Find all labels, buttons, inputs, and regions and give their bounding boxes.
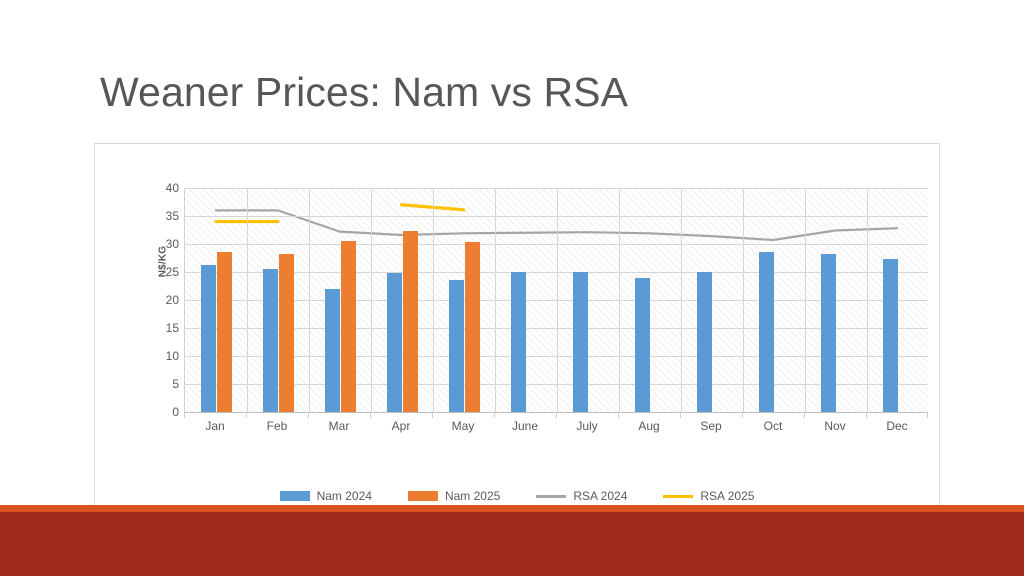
legend-swatch-bar-icon — [280, 491, 310, 501]
x-axis-tick — [308, 412, 309, 418]
bar-nam-2024-jan[interactable] — [201, 265, 216, 412]
accent-band — [0, 505, 1024, 512]
page-title: Weaner Prices: Nam vs RSA — [100, 69, 628, 116]
category-divider — [867, 188, 868, 412]
x-axis-tick-label: June — [512, 419, 538, 435]
bar-nam-2025-feb[interactable] — [279, 254, 294, 412]
x-axis-tick — [927, 412, 928, 418]
bar-nam-2024-dec[interactable] — [883, 259, 898, 412]
legend-item-rsa-2025[interactable]: RSA 2025 — [663, 489, 754, 503]
legend-label: RSA 2025 — [700, 489, 754, 503]
y-axis-tick-label: 25 — [166, 266, 179, 278]
bar-nam-2024-apr[interactable] — [387, 273, 402, 412]
bar-nam-2024-aug[interactable] — [635, 278, 650, 412]
category-divider — [247, 188, 248, 412]
legend-swatch-line-icon — [536, 495, 566, 498]
bar-nam-2024-sep[interactable] — [697, 272, 712, 412]
y-axis-tick-label: 10 — [166, 350, 179, 362]
y-axis-tick-label: 35 — [166, 210, 179, 222]
bar-nam-2024-mar[interactable] — [325, 289, 340, 412]
legend-label: RSA 2024 — [573, 489, 627, 503]
bar-nam-2025-mar[interactable] — [341, 241, 356, 412]
category-divider — [743, 188, 744, 412]
x-axis-tick-label: Apr — [392, 419, 411, 435]
x-axis-tick-label: Feb — [267, 419, 288, 435]
bar-nam-2024-june[interactable] — [511, 272, 526, 412]
bar-nam-2025-may[interactable] — [465, 242, 480, 412]
bar-nam-2025-apr[interactable] — [403, 231, 418, 412]
y-axis-tick-label: 30 — [166, 238, 179, 250]
bar-nam-2024-nov[interactable] — [821, 254, 836, 412]
legend-item-nam-2024[interactable]: Nam 2024 — [280, 489, 372, 503]
legend-swatch-bar-icon — [408, 491, 438, 501]
category-divider — [805, 188, 806, 412]
x-axis-tick-labels: JanFebMarAprMayJuneJulyAugSepOctNovDec — [184, 419, 928, 437]
category-divider — [681, 188, 682, 412]
chart-container[interactable]: N$/KG 4035302520151050 JanFebMarAprMayJu… — [94, 143, 940, 519]
x-axis-ticks — [184, 412, 928, 418]
category-divider — [371, 188, 372, 412]
x-axis-tick — [556, 412, 557, 418]
chart-legend[interactable]: Nam 2024Nam 2025RSA 2024RSA 2025 — [95, 489, 939, 503]
y-axis-tick-label: 40 — [166, 182, 179, 194]
x-axis-tick-label: Jan — [205, 419, 224, 435]
x-axis-tick-label: Aug — [638, 419, 659, 435]
x-axis-tick — [804, 412, 805, 418]
x-axis-tick — [742, 412, 743, 418]
plot-area — [184, 188, 928, 412]
x-axis-tick — [680, 412, 681, 418]
legend-swatch-line-icon — [663, 495, 693, 498]
category-divider — [557, 188, 558, 412]
x-axis-tick — [184, 412, 185, 418]
x-axis-tick — [494, 412, 495, 418]
legend-label: Nam 2024 — [317, 489, 372, 503]
slide: Weaner Prices: Nam vs RSA N$/KG 40353025… — [0, 0, 1024, 576]
footer-band — [0, 512, 1024, 576]
category-divider — [433, 188, 434, 412]
x-axis-tick-label: Sep — [700, 419, 721, 435]
y-axis-tick-labels: 4035302520151050 — [137, 188, 179, 412]
bar-nam-2024-july[interactable] — [573, 272, 588, 412]
legend-item-rsa-2024[interactable]: RSA 2024 — [536, 489, 627, 503]
x-axis-tick-label: May — [452, 419, 475, 435]
legend-item-nam-2025[interactable]: Nam 2025 — [408, 489, 500, 503]
x-axis-tick — [866, 412, 867, 418]
bar-nam-2024-oct[interactable] — [759, 252, 774, 412]
x-axis-tick — [246, 412, 247, 418]
x-axis-tick-label: Mar — [329, 419, 350, 435]
category-divider — [495, 188, 496, 412]
bar-nam-2025-jan[interactable] — [217, 252, 232, 412]
y-axis-tick-label: 15 — [166, 322, 179, 334]
x-axis-tick — [370, 412, 371, 418]
bar-nam-2024-feb[interactable] — [263, 269, 278, 412]
x-axis-tick — [618, 412, 619, 418]
x-axis-tick-label: Dec — [886, 419, 907, 435]
category-divider — [309, 188, 310, 412]
bar-nam-2024-may[interactable] — [449, 280, 464, 412]
x-axis-tick-label: July — [576, 419, 597, 435]
legend-label: Nam 2025 — [445, 489, 500, 503]
y-axis-tick-label: 20 — [166, 294, 179, 306]
x-axis-tick — [432, 412, 433, 418]
x-axis-tick-label: Nov — [824, 419, 845, 435]
x-axis-tick-label: Oct — [764, 419, 783, 435]
chart-inner: N$/KG 4035302520151050 JanFebMarAprMayJu… — [95, 144, 939, 518]
category-divider — [619, 188, 620, 412]
y-axis-tick-label: 5 — [172, 378, 179, 390]
y-axis-tick-label: 0 — [172, 406, 179, 418]
